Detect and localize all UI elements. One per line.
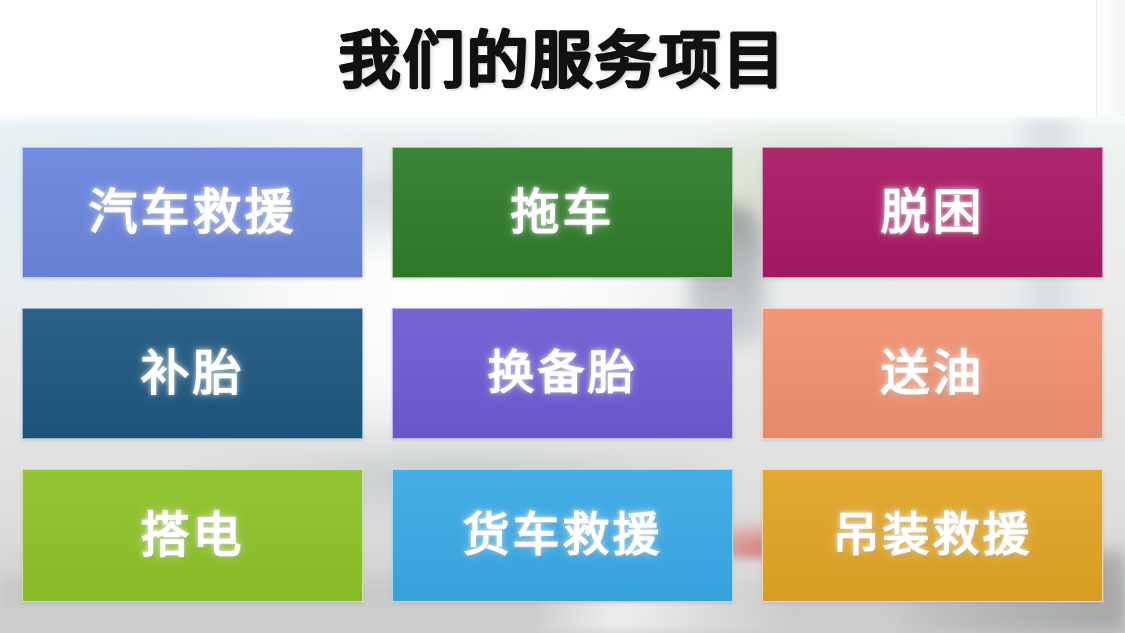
service-tile-car-rescue[interactable]: 汽车救援 — [22, 147, 363, 278]
service-tile-label: 脱困 — [880, 188, 984, 237]
background-top-band-edge — [0, 112, 1125, 126]
service-tile-extrication[interactable]: 脱困 — [762, 147, 1103, 278]
service-tile-jump-start[interactable]: 搭电 — [22, 469, 363, 602]
service-tile-truck-rescue[interactable]: 货车救援 — [392, 469, 733, 602]
service-tile-crane-rescue[interactable]: 吊装救援 — [762, 469, 1103, 602]
service-tile-tow-truck[interactable]: 拖车 — [392, 147, 733, 278]
page-title: 我们的服务项目 — [0, 14, 1125, 108]
service-tile-label: 换备胎 — [488, 350, 638, 397]
service-tile-label: 汽车救援 — [88, 188, 296, 237]
service-tile-tire-repair[interactable]: 补胎 — [22, 308, 363, 439]
service-tile-spare-tire[interactable]: 换备胎 — [392, 308, 733, 439]
service-tile-label: 补胎 — [140, 349, 244, 398]
service-tile-fuel-delivery[interactable]: 送油 — [762, 308, 1103, 439]
service-tile-label: 送油 — [880, 349, 984, 398]
service-tile-label: 货车救援 — [463, 512, 663, 559]
service-tile-label: 搭电 — [140, 511, 244, 560]
service-tile-label: 吊装救援 — [833, 512, 1033, 559]
service-tile-label: 拖车 — [510, 188, 614, 237]
service-grid: 汽车救援 拖车 脱困 补胎 换备胎 送油 搭电 货车救援 吊装救援 — [22, 147, 1103, 602]
service-poster: 我们的服务项目 汽车救援 拖车 脱困 补胎 换备胎 送油 搭电 货车救援 吊装救… — [0, 0, 1125, 633]
